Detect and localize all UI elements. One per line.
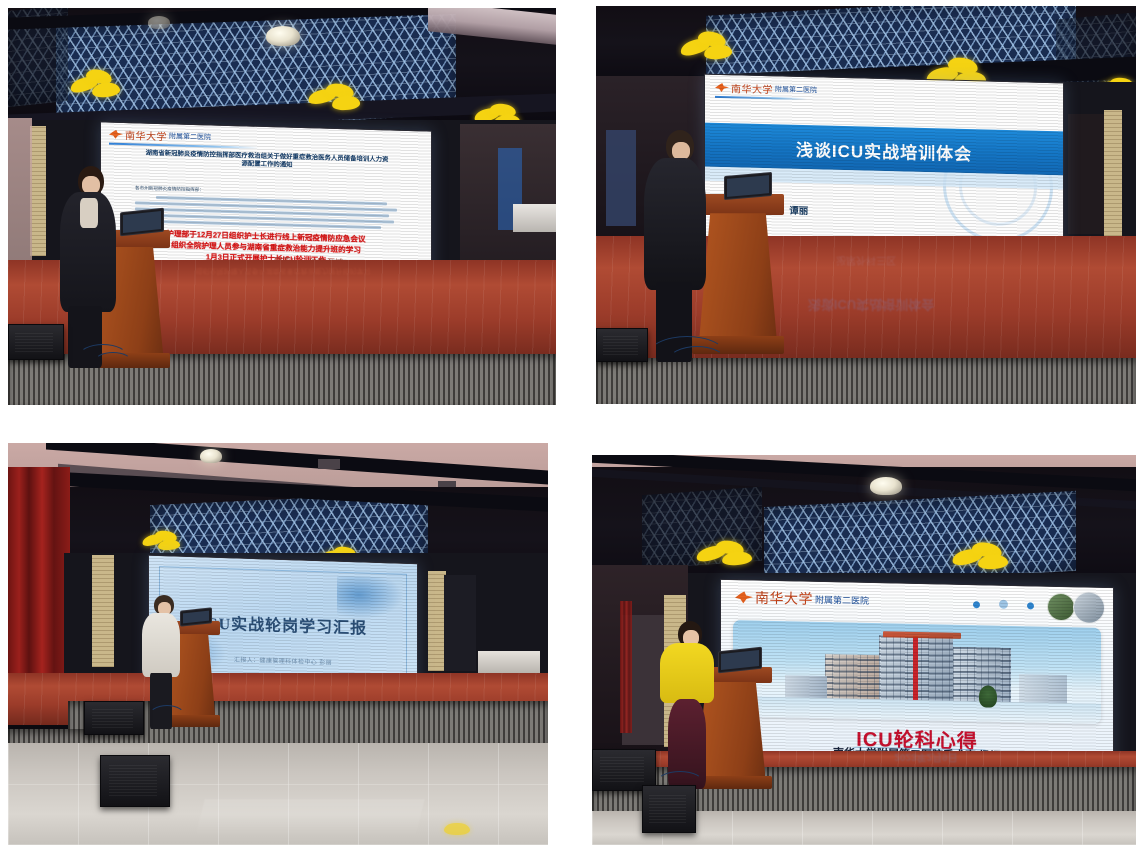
spotlight-dome bbox=[870, 477, 902, 495]
hospital-left-wing bbox=[825, 654, 879, 703]
cable bbox=[656, 771, 704, 795]
slide-hospital-cover: 南华大学 附属第二医院 bbox=[721, 580, 1113, 774]
slide-logo: 南华大学 附属第二医院 bbox=[715, 80, 817, 97]
podium-body bbox=[699, 213, 776, 338]
hospital-far-block bbox=[1019, 674, 1067, 705]
cable bbox=[668, 346, 726, 376]
presenter-torso bbox=[644, 158, 706, 290]
locker-left bbox=[606, 130, 636, 226]
laptop-lid bbox=[724, 172, 772, 200]
screen-reflection: 2023年2月9日 bbox=[826, 751, 1026, 766]
lamp-cluster-1 bbox=[142, 531, 182, 551]
lamp-cluster-left bbox=[680, 32, 738, 62]
laptop bbox=[180, 607, 212, 626]
slide-logo: 南华大学 附属第二医院 bbox=[109, 127, 211, 145]
slide-logo: 南华大学 附属第二医院 bbox=[735, 587, 869, 610]
laptop bbox=[120, 208, 164, 237]
spotlight-dome-2 bbox=[148, 16, 170, 29]
notice-title: 湖南省新冠肺炎疫情防控指挥部医疗救治组关于做好重症救治医务人员储备培训人力资源配… bbox=[145, 150, 389, 173]
deco-dot bbox=[973, 601, 980, 608]
stage-speaker-box bbox=[84, 701, 144, 735]
bird-icon bbox=[109, 130, 123, 139]
floor-reflection-lamp bbox=[444, 823, 470, 835]
laptop-lid bbox=[718, 647, 762, 674]
notice-body: 各市州新冠肺炎疫情防控指挥部： bbox=[135, 185, 397, 232]
bird-icon bbox=[715, 83, 729, 92]
lamp-cluster-mid bbox=[308, 84, 366, 114]
photo-thumbnail-2 bbox=[1073, 591, 1105, 624]
presenter-torso bbox=[142, 613, 180, 677]
reflection-line: 组织全院护理人员参与湖南省重症救治能力提升班的学习 bbox=[158, 266, 408, 276]
lamp-cluster-mid bbox=[952, 543, 1016, 571]
doorway-right bbox=[1068, 114, 1104, 234]
wing-windows bbox=[825, 654, 879, 703]
screen-reflection: 组织全院护理人员参与湖南省重症救治能力提升班的学习 bbox=[158, 266, 408, 276]
hospital-tree bbox=[979, 685, 997, 707]
photo-bottom-right: 南华大学 附属第二医院 bbox=[592, 455, 1136, 845]
floor-reflection bbox=[195, 799, 424, 837]
laptop-lid bbox=[120, 208, 164, 237]
deco-dot bbox=[1027, 602, 1034, 609]
laptop-lid bbox=[180, 607, 212, 626]
bird-icon bbox=[735, 591, 753, 603]
reception-desk bbox=[513, 204, 556, 232]
laptop bbox=[724, 172, 772, 200]
photo-top-right: 南华大学 附属第二医院 浅谈ICU实战培训体会 泌尿外科三区 谭丽 bbox=[596, 6, 1136, 404]
logo-hospital-name: 附属第二医院 bbox=[169, 131, 211, 142]
subtitle-presenter-name: 谭丽 bbox=[789, 206, 808, 217]
photo-bottom-left: ICU实战轮岗学习汇报 汇报人：健康管理科体检中心 彭丽 bbox=[8, 443, 548, 845]
reception-desk bbox=[478, 651, 540, 675]
presenter-inner-top bbox=[80, 198, 98, 228]
logo-university-name: 南华大学 bbox=[755, 588, 813, 609]
stage-speaker-box bbox=[8, 324, 64, 360]
photo-collage: 南华大学 附属第二医院 湖南省新冠肺炎疫情防控指挥部医疗救治组关于做好重症救治医… bbox=[0, 0, 1142, 851]
reflection-line: 2023年2月9日 bbox=[826, 751, 1026, 766]
cable bbox=[148, 705, 186, 729]
logo-hospital-name: 附属第二医院 bbox=[815, 592, 869, 606]
spotlight-dome bbox=[200, 449, 222, 463]
floor-subwoofer bbox=[100, 755, 170, 807]
doorway-right bbox=[444, 575, 476, 671]
tower-red-stripe bbox=[913, 636, 918, 702]
side-wall-left bbox=[8, 118, 32, 263]
logo-university-name: 南华大学 bbox=[731, 80, 773, 96]
presenter-yellow-jacket bbox=[660, 643, 714, 703]
lamp-cluster-left bbox=[70, 70, 126, 100]
curtain-strip bbox=[620, 601, 632, 733]
presenter bbox=[658, 621, 716, 789]
presenter bbox=[642, 130, 710, 362]
photo-thumbnail-1 bbox=[1047, 593, 1075, 622]
logo-university-name: 南华大学 bbox=[125, 127, 167, 143]
spotlight-dome bbox=[266, 26, 300, 46]
deco-dot bbox=[999, 600, 1008, 609]
stage-speaker-box bbox=[596, 328, 648, 362]
wood-wall-left bbox=[92, 555, 114, 667]
cable bbox=[94, 352, 132, 372]
wood-wall-left bbox=[30, 126, 46, 256]
hospital-photo-card bbox=[733, 620, 1101, 724]
led-screen: 南华大学 附属第二医院 bbox=[720, 579, 1114, 775]
laptop bbox=[718, 647, 762, 674]
presenter bbox=[56, 166, 118, 368]
lamp-cluster-left bbox=[696, 541, 758, 567]
wood-wall-right bbox=[1104, 110, 1122, 236]
photo-top-left: 南华大学 附属第二医院 湖南省新冠肺炎疫情防控指挥部医疗救治组关于做好重症救治医… bbox=[8, 8, 556, 405]
logo-hospital-name: 附属第二医院 bbox=[775, 84, 817, 95]
ceiling-vent bbox=[318, 459, 340, 469]
